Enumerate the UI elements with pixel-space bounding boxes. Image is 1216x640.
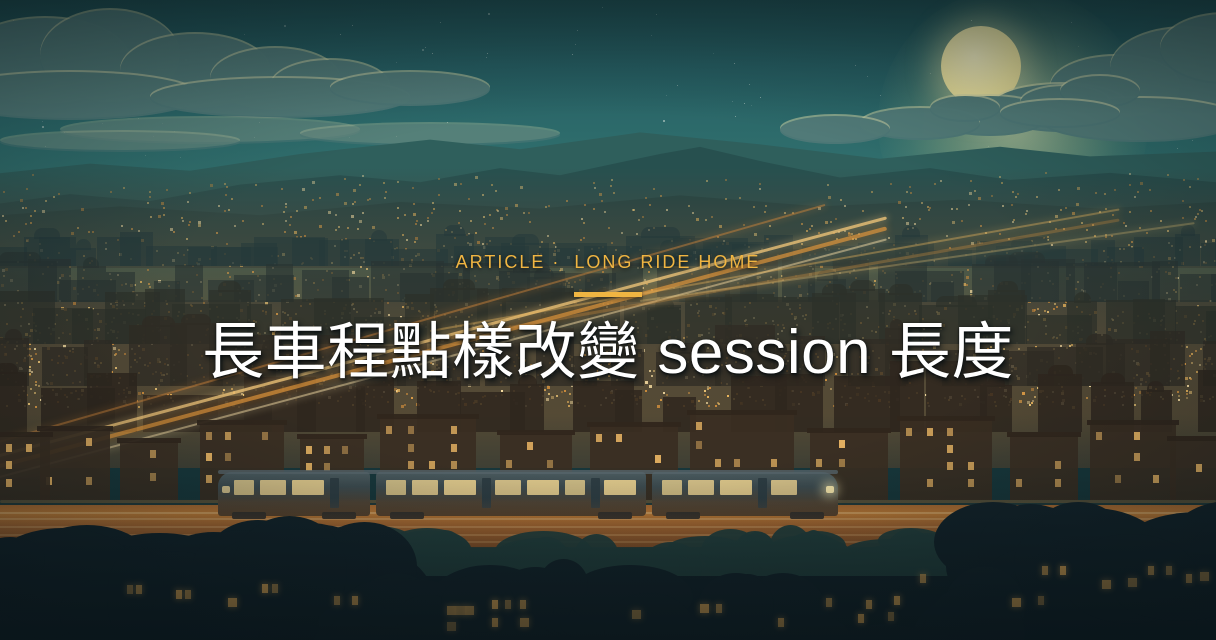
city-light bbox=[840, 199, 842, 201]
city-light bbox=[357, 228, 359, 230]
train-window bbox=[604, 480, 636, 495]
city-light bbox=[952, 221, 955, 224]
window-light bbox=[206, 475, 212, 483]
city-light bbox=[1077, 187, 1080, 190]
window-light bbox=[968, 479, 974, 487]
foreground-building bbox=[1090, 424, 1176, 500]
star bbox=[42, 126, 44, 128]
city-light bbox=[312, 199, 314, 201]
city-light bbox=[58, 193, 60, 195]
window-light bbox=[1055, 461, 1061, 469]
train-window bbox=[688, 480, 714, 495]
star bbox=[744, 103, 745, 104]
city-light bbox=[515, 204, 518, 207]
city-light bbox=[123, 187, 125, 189]
house-window-light bbox=[520, 600, 526, 609]
building-roof bbox=[117, 438, 181, 443]
building-roof bbox=[807, 428, 891, 433]
city-light bbox=[482, 194, 484, 196]
city-light bbox=[1167, 174, 1169, 176]
star bbox=[575, 44, 576, 45]
house-window-light bbox=[826, 598, 832, 607]
city-light bbox=[1011, 204, 1013, 206]
city-light bbox=[633, 209, 635, 211]
star bbox=[440, 22, 441, 23]
city-light bbox=[594, 187, 596, 189]
city-building-roof bbox=[512, 234, 539, 245]
city-light bbox=[980, 225, 982, 227]
window-light bbox=[616, 434, 622, 442]
city-light bbox=[523, 212, 525, 214]
city-light bbox=[88, 231, 90, 233]
city-light bbox=[1149, 189, 1151, 191]
building-roof bbox=[197, 420, 287, 425]
city-light bbox=[226, 243, 228, 245]
city-light bbox=[431, 212, 433, 214]
city-light bbox=[688, 205, 690, 207]
city-light bbox=[302, 188, 305, 191]
window-light bbox=[408, 444, 414, 452]
city-light bbox=[764, 211, 766, 213]
window-light bbox=[150, 473, 156, 481]
city-light bbox=[22, 207, 24, 209]
window-light bbox=[451, 444, 457, 452]
city-light bbox=[642, 216, 644, 218]
city-light bbox=[163, 207, 165, 209]
city-light bbox=[149, 196, 151, 198]
city-light bbox=[1197, 213, 1199, 215]
house-window-light bbox=[272, 584, 278, 593]
city-light bbox=[225, 194, 227, 196]
city-light bbox=[173, 231, 175, 233]
city-light bbox=[927, 206, 929, 208]
house-window-light bbox=[888, 612, 894, 621]
city-light bbox=[226, 186, 228, 188]
city-light bbox=[385, 191, 387, 193]
city-light bbox=[636, 233, 638, 235]
city-light bbox=[946, 235, 948, 237]
city-light bbox=[147, 202, 149, 204]
star bbox=[666, 95, 667, 96]
house-window-light bbox=[127, 585, 133, 594]
city-light bbox=[828, 196, 831, 199]
city-light bbox=[1045, 172, 1047, 174]
train-window bbox=[662, 480, 682, 495]
city-light bbox=[1081, 222, 1083, 224]
city-light bbox=[460, 183, 462, 185]
city-light bbox=[902, 217, 904, 219]
city-light bbox=[163, 214, 165, 216]
house-window-light bbox=[716, 604, 722, 613]
city-light bbox=[961, 220, 963, 222]
city-light bbox=[844, 205, 846, 207]
city-light bbox=[753, 206, 755, 208]
city-light bbox=[968, 204, 970, 206]
window-light bbox=[696, 422, 702, 430]
house-window-light bbox=[1060, 566, 1066, 575]
city-light bbox=[354, 201, 356, 203]
house-window-light bbox=[1186, 574, 1192, 583]
train-headlight bbox=[826, 486, 834, 493]
window-light bbox=[596, 434, 602, 442]
star bbox=[651, 35, 652, 36]
city-light bbox=[415, 237, 418, 240]
city-light bbox=[210, 184, 213, 187]
city-light bbox=[25, 223, 27, 225]
city-light bbox=[1137, 191, 1139, 193]
window-light bbox=[262, 432, 268, 440]
hero-banner: ARTICLE · LONG RIDE HOME 長車程點樣改變 session… bbox=[0, 0, 1216, 640]
foreground-building bbox=[1170, 440, 1216, 500]
city-light bbox=[611, 242, 613, 244]
city-light bbox=[906, 191, 908, 193]
city-light bbox=[149, 191, 151, 193]
city-light bbox=[415, 223, 417, 225]
house-window-light bbox=[456, 606, 465, 615]
city-light bbox=[20, 199, 23, 202]
star bbox=[432, 53, 433, 54]
window-light bbox=[1055, 479, 1061, 487]
star bbox=[735, 116, 736, 117]
city-light bbox=[182, 220, 184, 222]
city-light bbox=[705, 219, 707, 221]
city-light bbox=[653, 188, 655, 190]
window-light bbox=[206, 453, 212, 461]
city-light bbox=[1047, 236, 1049, 238]
cloud-lobe bbox=[930, 96, 1000, 122]
city-light bbox=[347, 227, 349, 229]
city-light bbox=[1205, 220, 1207, 222]
city-light bbox=[1146, 232, 1148, 234]
city-light bbox=[910, 192, 912, 194]
city-light bbox=[30, 222, 32, 224]
city-light bbox=[1182, 200, 1184, 202]
city-light bbox=[359, 184, 361, 186]
window-light bbox=[408, 426, 414, 434]
city-light bbox=[978, 197, 981, 200]
city-light bbox=[475, 232, 477, 234]
foreground-tree bbox=[698, 573, 774, 639]
window-light bbox=[527, 442, 533, 450]
building-roof bbox=[0, 432, 53, 437]
city-light bbox=[92, 231, 94, 233]
city-light bbox=[696, 218, 699, 221]
accent-rule bbox=[574, 292, 642, 297]
city-light bbox=[53, 196, 55, 198]
city-light bbox=[759, 183, 761, 185]
window-light bbox=[839, 440, 845, 448]
city-light bbox=[189, 192, 191, 194]
tree-canopy bbox=[769, 525, 812, 573]
city-light bbox=[13, 235, 15, 237]
city-light bbox=[26, 188, 28, 190]
foreground-building bbox=[40, 430, 110, 500]
city-light bbox=[545, 206, 547, 208]
window-light bbox=[1096, 432, 1102, 440]
city-light bbox=[1128, 244, 1130, 246]
city-light bbox=[344, 202, 347, 205]
city-light bbox=[547, 235, 549, 237]
city-light bbox=[801, 223, 803, 225]
city-light bbox=[581, 218, 583, 220]
window-light bbox=[342, 446, 348, 454]
window-light bbox=[696, 441, 702, 449]
city-light bbox=[30, 215, 32, 217]
city-light bbox=[905, 206, 907, 208]
window-light bbox=[6, 444, 12, 452]
city-light bbox=[725, 198, 727, 200]
train-window bbox=[386, 480, 406, 495]
city-light bbox=[484, 223, 486, 225]
building-roof bbox=[587, 422, 681, 427]
city-light bbox=[397, 181, 399, 183]
city-light bbox=[71, 232, 74, 235]
city-light bbox=[1150, 210, 1152, 212]
city-light bbox=[150, 216, 152, 218]
house-window-light bbox=[632, 610, 641, 619]
city-light bbox=[285, 203, 287, 205]
house-window-light bbox=[492, 618, 498, 627]
city-light bbox=[529, 221, 531, 223]
star bbox=[677, 85, 678, 86]
city-light bbox=[497, 210, 499, 212]
city-light bbox=[477, 241, 480, 244]
building-roof bbox=[687, 410, 797, 415]
foreground-tree bbox=[539, 559, 588, 609]
window-light bbox=[1196, 464, 1202, 472]
city-light bbox=[1017, 193, 1019, 195]
house-window-light bbox=[505, 600, 511, 609]
city-light bbox=[1131, 241, 1133, 243]
city-light bbox=[262, 223, 264, 225]
city-light bbox=[500, 217, 503, 220]
house-window-light bbox=[465, 606, 474, 615]
city-light bbox=[384, 197, 386, 199]
city-light bbox=[45, 200, 47, 202]
city-light bbox=[848, 232, 850, 234]
city-light bbox=[1025, 213, 1027, 215]
city-light bbox=[1112, 214, 1114, 216]
house-window-light bbox=[778, 618, 784, 627]
house-window-light bbox=[866, 600, 872, 609]
city-light bbox=[328, 211, 331, 214]
star bbox=[656, 14, 657, 15]
city-light bbox=[991, 195, 993, 197]
foreground-building bbox=[1010, 436, 1078, 500]
city-light bbox=[352, 203, 354, 205]
city-light bbox=[604, 211, 606, 213]
city-light bbox=[610, 185, 612, 187]
city-light bbox=[224, 210, 226, 212]
city-light bbox=[319, 197, 321, 199]
city-light bbox=[999, 233, 1001, 235]
city-light bbox=[1201, 210, 1203, 212]
city-light bbox=[580, 239, 582, 241]
city-light bbox=[806, 230, 808, 232]
house-window-light bbox=[700, 604, 709, 613]
city-light bbox=[583, 222, 585, 224]
window-light bbox=[839, 459, 845, 467]
city-light bbox=[1183, 179, 1185, 181]
window-light bbox=[6, 479, 12, 487]
city-light bbox=[483, 216, 485, 218]
city-light bbox=[406, 239, 408, 241]
page-title: 長車程點樣改變 session 長度 bbox=[0, 317, 1216, 389]
city-light bbox=[608, 227, 610, 229]
cloud-lobe bbox=[780, 116, 890, 144]
city-light bbox=[397, 207, 399, 209]
train-window bbox=[260, 480, 286, 495]
city-light bbox=[1104, 193, 1106, 195]
window-light bbox=[6, 461, 12, 469]
city-light bbox=[1189, 206, 1191, 208]
train-window bbox=[234, 480, 254, 495]
window-light bbox=[1134, 432, 1140, 440]
house-window-light bbox=[1012, 598, 1021, 607]
city-light bbox=[919, 218, 921, 220]
house-window-light bbox=[492, 600, 498, 609]
city-light bbox=[934, 183, 936, 185]
building-roof bbox=[377, 414, 479, 419]
city-light bbox=[506, 214, 508, 216]
city-light bbox=[1036, 196, 1038, 198]
house-window-light bbox=[1042, 566, 1048, 575]
train-window bbox=[527, 480, 559, 495]
city-light bbox=[468, 198, 470, 200]
city-light bbox=[692, 212, 694, 214]
city-light bbox=[649, 204, 651, 206]
city-light bbox=[402, 234, 404, 236]
city-light bbox=[1125, 225, 1127, 227]
city-light bbox=[491, 184, 493, 186]
city-light bbox=[1002, 205, 1004, 207]
building-roof bbox=[37, 426, 113, 431]
city-light bbox=[492, 227, 494, 229]
kicker-label: ARTICLE · LONG RIDE HOME bbox=[0, 250, 1216, 274]
city-light bbox=[520, 186, 523, 189]
city-light bbox=[438, 194, 440, 196]
city-light bbox=[1129, 184, 1131, 186]
city-light bbox=[216, 232, 218, 234]
city-light bbox=[1167, 230, 1169, 232]
city-light bbox=[898, 201, 901, 204]
city-light bbox=[459, 210, 461, 212]
city-light bbox=[335, 214, 337, 216]
city-light bbox=[383, 182, 385, 184]
city-light bbox=[974, 190, 976, 192]
star bbox=[713, 53, 714, 54]
city-light bbox=[187, 201, 189, 203]
city-light bbox=[412, 187, 414, 189]
city-light bbox=[1129, 211, 1131, 213]
star bbox=[734, 63, 735, 64]
window-light bbox=[1134, 453, 1140, 461]
city-light bbox=[18, 231, 20, 233]
window-light bbox=[1153, 475, 1159, 483]
city-light bbox=[284, 231, 286, 233]
city-light bbox=[198, 224, 201, 227]
city-light bbox=[312, 181, 315, 184]
star bbox=[760, 97, 761, 98]
city-light bbox=[5, 220, 7, 222]
city-light bbox=[888, 237, 890, 239]
city-light bbox=[1058, 189, 1060, 191]
star bbox=[1192, 140, 1193, 141]
star bbox=[180, 157, 181, 158]
city-light bbox=[344, 178, 346, 180]
city-light bbox=[739, 197, 741, 199]
city-light bbox=[338, 226, 340, 228]
city-light bbox=[1095, 192, 1097, 194]
city-light bbox=[369, 198, 371, 200]
star bbox=[602, 7, 603, 8]
city-light bbox=[404, 214, 406, 216]
building-roof bbox=[1007, 432, 1081, 437]
star bbox=[487, 53, 488, 54]
city-light bbox=[811, 225, 813, 227]
star bbox=[732, 101, 733, 102]
train-window bbox=[720, 480, 752, 495]
house-window-light bbox=[447, 622, 456, 631]
city-light bbox=[1060, 209, 1062, 211]
city-light bbox=[638, 219, 640, 221]
train-window bbox=[565, 480, 585, 495]
city-light bbox=[470, 220, 472, 222]
window-light bbox=[306, 446, 312, 454]
cloud-lobe bbox=[0, 132, 240, 152]
city-light bbox=[228, 209, 230, 211]
star bbox=[352, 25, 353, 26]
house-window-light bbox=[1148, 566, 1154, 575]
city-light bbox=[289, 224, 291, 226]
star bbox=[751, 105, 752, 106]
city-light bbox=[181, 217, 183, 219]
city-light bbox=[862, 210, 864, 212]
city-light bbox=[999, 176, 1001, 178]
city-light bbox=[186, 238, 188, 240]
city-light bbox=[1160, 220, 1162, 222]
cloud-lobe bbox=[1000, 100, 1120, 128]
window-light bbox=[386, 426, 392, 434]
window-light bbox=[906, 428, 912, 436]
city-light bbox=[1076, 203, 1079, 206]
city-light bbox=[413, 213, 416, 216]
city-light bbox=[583, 237, 585, 239]
train-window bbox=[444, 480, 476, 495]
city-light bbox=[611, 179, 613, 181]
city-light bbox=[359, 220, 362, 223]
star bbox=[396, 62, 397, 63]
city-light bbox=[32, 174, 34, 176]
city-light bbox=[1129, 173, 1131, 175]
city-light bbox=[784, 212, 786, 214]
house-window-light bbox=[1128, 578, 1137, 587]
city-light bbox=[1086, 229, 1088, 231]
city-light bbox=[725, 179, 727, 181]
city-light bbox=[362, 212, 364, 214]
city-light bbox=[218, 205, 220, 207]
star bbox=[663, 120, 665, 122]
city-light bbox=[970, 180, 972, 182]
train-taillight bbox=[222, 486, 230, 493]
city-light bbox=[1194, 218, 1196, 220]
city-building-roof bbox=[76, 239, 91, 250]
window-light bbox=[947, 445, 953, 453]
city-light bbox=[666, 209, 668, 211]
city-light bbox=[871, 191, 873, 193]
city-light bbox=[3, 191, 5, 193]
star bbox=[284, 25, 286, 27]
